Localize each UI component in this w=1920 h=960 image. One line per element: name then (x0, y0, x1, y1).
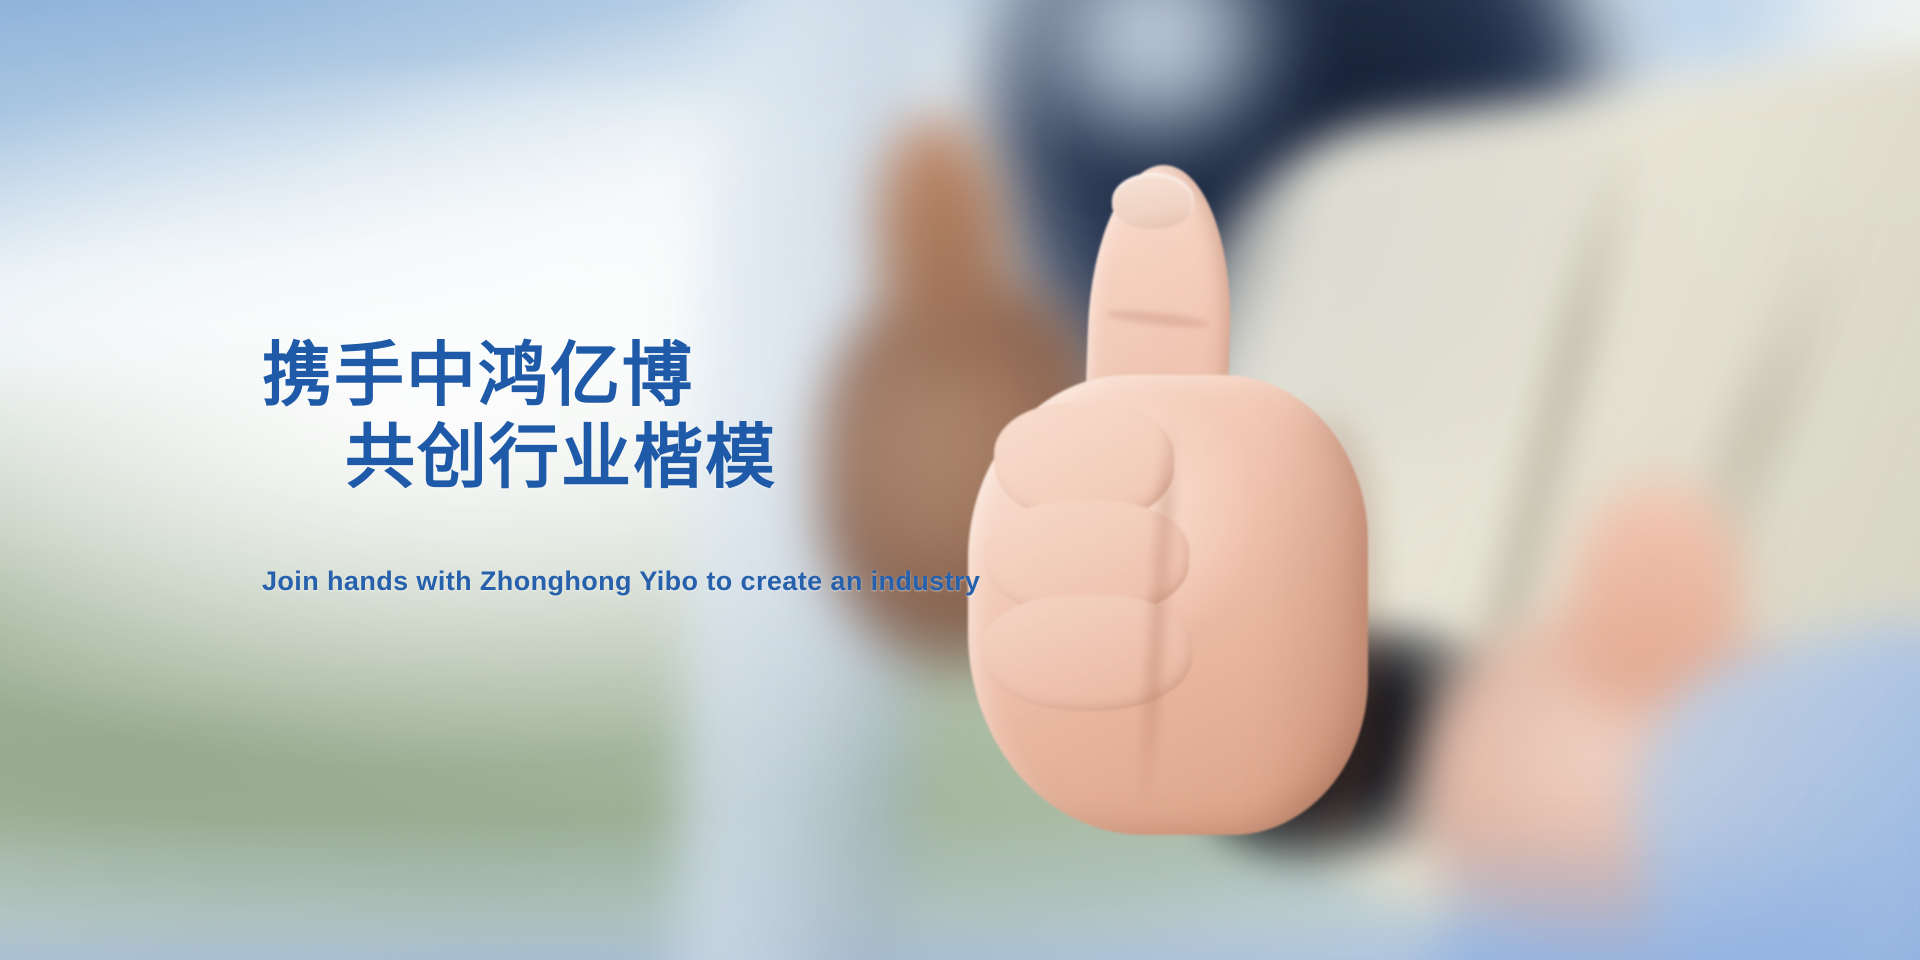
hero-banner: 携手中鸿亿博 共创行业楷模 Join hands with Zhonghong … (0, 0, 1920, 960)
background-photo (0, 0, 1920, 960)
blurred-blue-shirt-bottom (1440, 830, 1860, 960)
thumbs-up-hand (960, 165, 1400, 845)
hand-edge-shadow (1260, 415, 1380, 835)
thumbnail (1112, 173, 1194, 229)
